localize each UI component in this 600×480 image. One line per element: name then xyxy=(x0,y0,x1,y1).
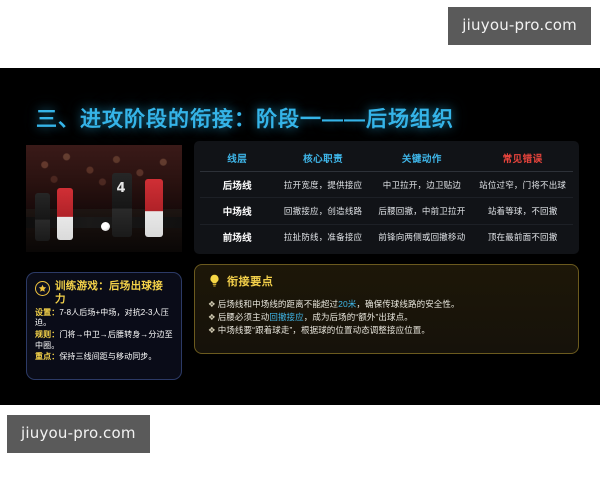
cell-duty: 拉开宽度，提供接应 xyxy=(275,172,372,198)
key-points-header: 衔接要点 xyxy=(208,273,566,289)
training-game-line-label: 规则： xyxy=(35,330,59,339)
bullet-text-post: ，成为后场的“额外”出球点。 xyxy=(304,312,413,322)
bullet-highlight: 回撤接应 xyxy=(269,312,303,322)
cell-duty: 拉扯防线，准备接应 xyxy=(275,224,372,250)
key-point-bullet: ❖后腰必须主动回撤接应，成为后场的“额外”出球点。 xyxy=(208,311,566,324)
cell-error: 站着等球，不回撤 xyxy=(472,198,573,224)
jersey-number: 4 xyxy=(116,181,125,196)
lightbulb-icon xyxy=(208,274,221,288)
key-point-bullet: ❖中场线要“跟着球走”，根据球的位置动态调整接应位置。 xyxy=(208,324,566,337)
table-row: 中场线 回撤接应，创造线路 后腰回撤，中前卫拉开 站着等球，不回撤 xyxy=(200,198,573,224)
line-roles-table-card: 线层 核心职责 关键动作 常见错误 后场线 拉开宽度，提供接应 中卫拉开，边卫贴… xyxy=(194,141,579,254)
cell-duty: 回撤接应，创造线路 xyxy=(275,198,372,224)
table-row: 后场线 拉开宽度，提供接应 中卫拉开，边卫贴边 站位过窄，门将不出球 xyxy=(200,172,573,198)
football-ball-icon xyxy=(101,222,110,231)
cell-action: 中卫拉开，边卫贴边 xyxy=(372,172,473,198)
bullet-marker: ❖ xyxy=(208,299,216,309)
bullet-text-pre: 后场线和中场线的距离不能超过 xyxy=(218,299,338,309)
player-red-kit xyxy=(57,188,73,240)
training-game-line-label: 设置： xyxy=(35,308,59,317)
bullet-marker: ❖ xyxy=(208,312,216,322)
bullet-text-post: ，确保传球线路的安全性。 xyxy=(356,299,459,309)
table-row: 前场线 拉扯防线，准备接应 前锋向两侧或回撤移动 顶在最前面不回撤 xyxy=(200,224,573,250)
training-game-line: 设置：7-8人后场+中场，对抗2-3人压迫。 xyxy=(35,308,173,329)
bullet-highlight: 20米 xyxy=(338,299,356,309)
bullet-marker: ❖ xyxy=(208,325,216,335)
column-header-action: 关键动作 xyxy=(372,146,473,172)
training-game-header: 训练游戏：后场出球接力 xyxy=(35,280,173,307)
line-roles-table: 线层 核心职责 关键动作 常见错误 后场线 拉开宽度，提供接应 中卫拉开，边卫贴… xyxy=(200,146,573,250)
key-points-title: 衔接要点 xyxy=(227,273,273,289)
cell-line: 中场线 xyxy=(200,198,275,224)
table-header-row: 线层 核心职责 关键动作 常见错误 xyxy=(200,146,573,172)
cell-action: 前锋向两侧或回撤移动 xyxy=(372,224,473,250)
bullet-text-pre: 中场线要“跟着球走”，根据球的位置动态调整接应位置。 xyxy=(218,325,430,335)
key-points-card: 衔接要点 ❖后场线和中场线的距离不能超过20米，确保传球线路的安全性。 ❖后腰必… xyxy=(194,264,579,354)
football-match-photo: 4 xyxy=(26,145,182,252)
player-dark-kit xyxy=(35,193,50,241)
training-game-title: 训练游戏：后场出球接力 xyxy=(55,280,173,307)
training-game-line-label: 重点： xyxy=(35,352,59,361)
training-game-card: 训练游戏：后场出球接力 设置：7-8人后场+中场，对抗2-3人压迫。 规则：门将… xyxy=(26,272,182,380)
watermark-top: jiuyou-pro.com xyxy=(448,7,591,45)
training-game-line: 规则：门将→中卫→后腰转身→分边至中圈。 xyxy=(35,330,173,351)
column-header-error: 常见错误 xyxy=(472,146,573,172)
cell-line: 前场线 xyxy=(200,224,275,250)
page-title: 三、进攻阶段的衔接：阶段一——后场组织 xyxy=(36,103,454,133)
cell-error: 站位过窄，门将不出球 xyxy=(472,172,573,198)
training-game-line-text: 保持三线间距与移动同步。 xyxy=(59,352,156,361)
training-game-line: 重点：保持三线间距与移动同步。 xyxy=(35,352,173,363)
watermark-bottom: jiuyou-pro.com xyxy=(7,415,150,453)
player-red-kit xyxy=(145,179,163,237)
bullet-text-pre: 后腰必须主动 xyxy=(218,312,270,322)
presentation-slide: 三、进攻阶段的衔接：阶段一——后场组织 4 线层 核心职责 xyxy=(0,68,600,405)
cell-error: 顶在最前面不回撤 xyxy=(472,224,573,250)
page-root: jiuyou-pro.com 三、进攻阶段的衔接：阶段一——后场组织 4 xyxy=(0,0,600,480)
cell-line: 后场线 xyxy=(200,172,275,198)
star-badge-icon xyxy=(35,281,50,296)
cell-action: 后腰回撤，中前卫拉开 xyxy=(372,198,473,224)
column-header-duty: 核心职责 xyxy=(275,146,372,172)
column-header-line: 线层 xyxy=(200,146,275,172)
key-point-bullet: ❖后场线和中场线的距离不能超过20米，确保传球线路的安全性。 xyxy=(208,298,566,311)
